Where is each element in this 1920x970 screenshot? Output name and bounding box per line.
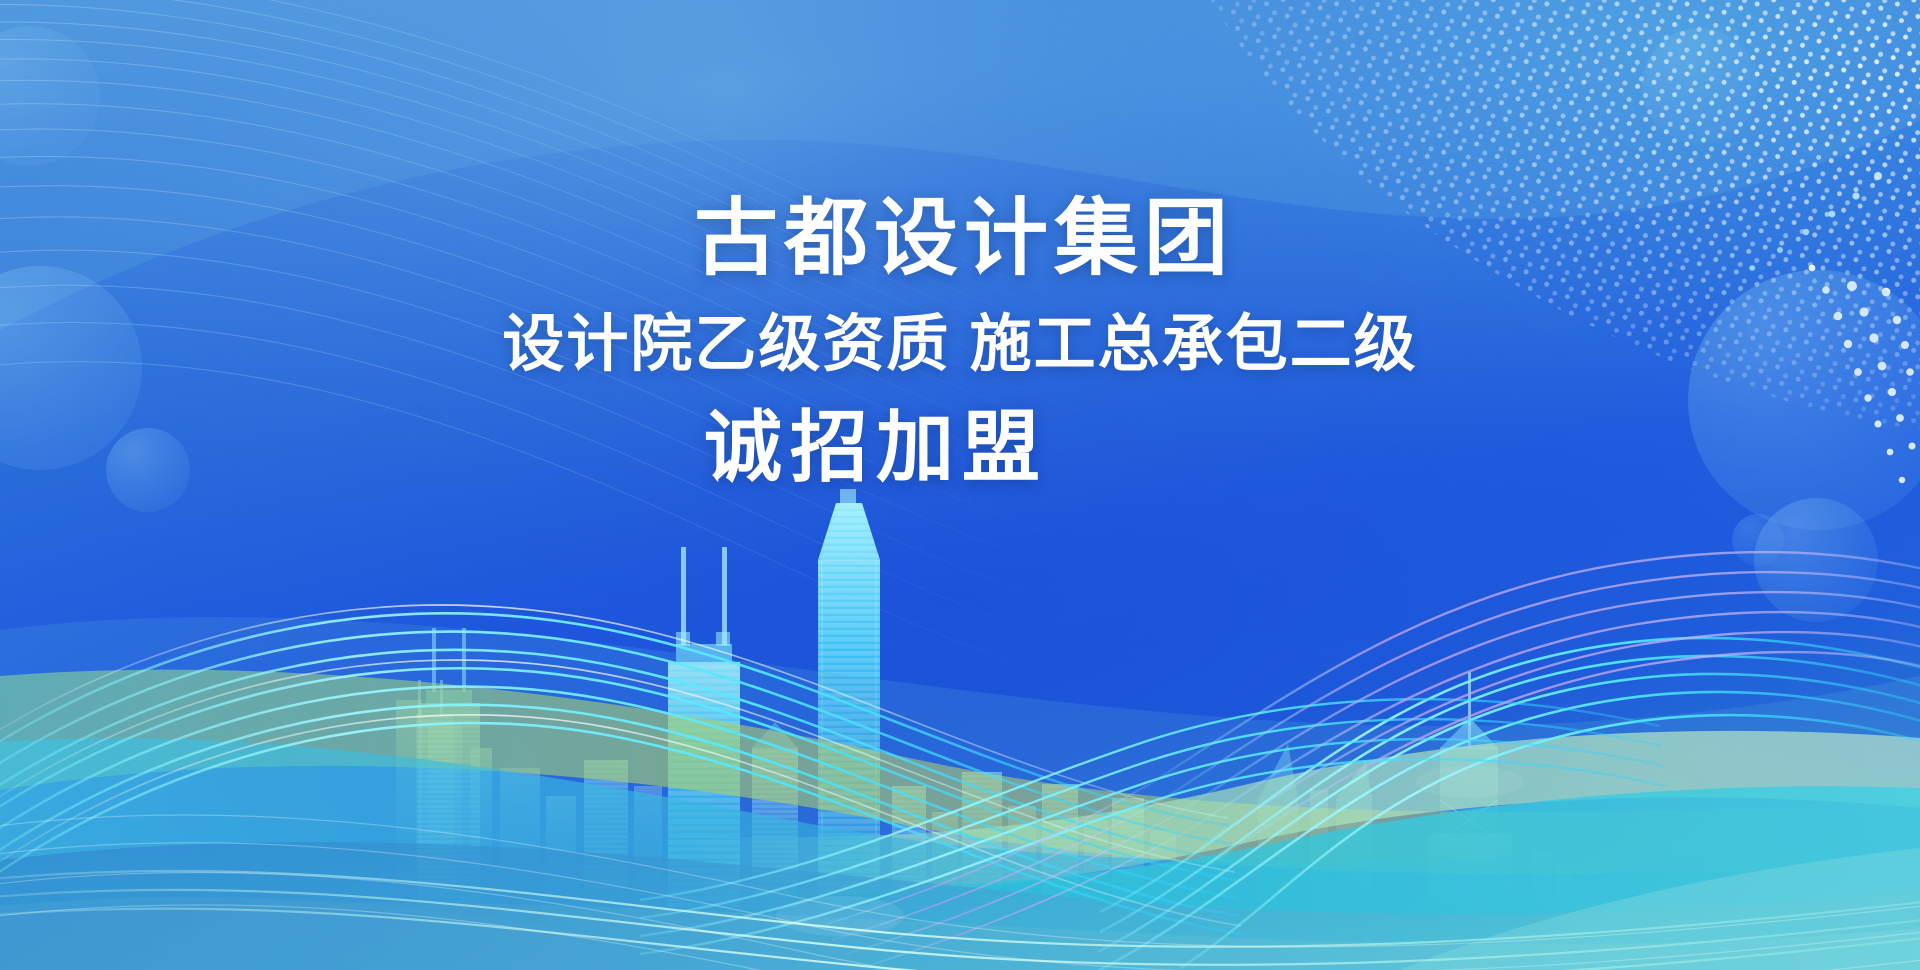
promo-banner: 古都设计集团 设计院乙级资质 施工总承包二级 诚招加盟 [0,0,1920,970]
flowing-wave-ribbons [0,0,1920,970]
